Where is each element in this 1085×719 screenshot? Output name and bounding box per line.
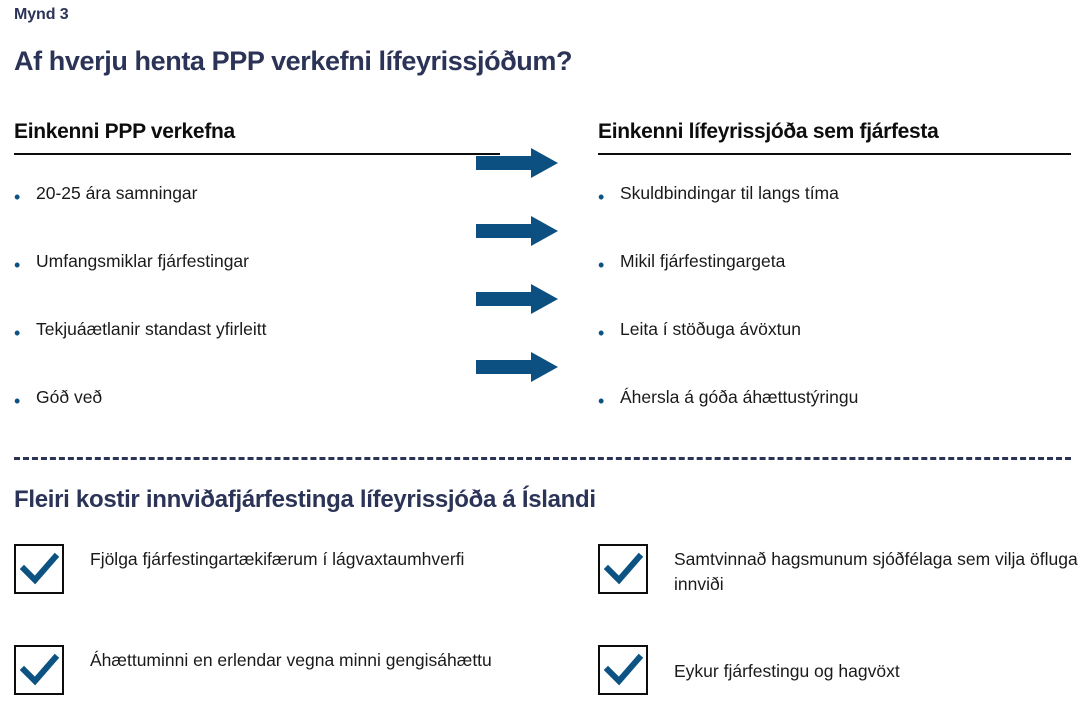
arrow-slot [476,284,566,352]
bullet-dot-icon: • [598,183,620,206]
bullet-dot-icon: • [598,387,620,410]
list-item: Eykur fjárfestingu og hagvöxt [598,645,1078,695]
arrow-right-icon [476,148,558,178]
column-left: Einkenni PPP verkefna • 20-25 ára samnin… [14,120,500,455]
list-item-label: Umfangsmiklar fjárfestingar [36,251,249,273]
list-item-label: Eykur fjárfestingu og hagvöxt [674,645,900,684]
checkbox-checked-icon [598,645,648,695]
arrow-column [476,148,566,420]
arrow-right-icon [476,216,558,246]
checkbox-checked-icon [14,645,64,695]
list-item-label: Mikil fjárfestingargeta [620,251,785,273]
column-right-heading: Einkenni lífeyrissjóða sem fjárfesta [598,120,1071,155]
list-item-label: Samtvinnað hagsmunum sjóðfélaga sem vilj… [674,544,1078,598]
bullet-dot-icon: • [14,183,36,206]
figure-page: Mynd 3 Af hverju henta PPP verkefni lífe… [0,0,1085,719]
list-item: • Áhersla á góða áhættustýringu [598,387,1071,455]
section-divider [14,457,1071,460]
list-item-label: Tekjuáætlanir standast yfirleitt [36,319,267,341]
list-item: • Tekjuáætlanir standast yfirleitt [14,319,500,387]
list-item: Samtvinnað hagsmunum sjóðfélaga sem vilj… [598,544,1078,598]
checkbox-checked-icon [598,544,648,594]
column-right: Einkenni lífeyrissjóða sem fjárfesta • S… [598,120,1071,455]
arrow-slot [476,216,566,284]
list-item: • Leita í stöðuga ávöxtun [598,319,1071,387]
list-item: Áhættuminni en erlendar vegna minni geng… [14,645,494,695]
bullet-dot-icon: • [598,251,620,274]
bullet-dot-icon: • [598,319,620,342]
list-item: Fjölga fjárfestingartækifærum í lágvaxta… [14,544,494,594]
section-heading: Fleiri kostir innviðafjárfestinga lífeyr… [14,486,596,514]
list-item: • Skuldbindingar til langs tíma [598,183,1071,251]
list-item: • Mikil fjárfestingargeta [598,251,1071,319]
list-item-label: 20-25 ára samningar [36,183,197,205]
bullet-dot-icon: • [14,319,36,342]
list-item-label: Áhættuminni en erlendar vegna minni geng… [90,645,492,673]
page-title: Af hverju henta PPP verkefni lífeyrissjó… [14,46,572,77]
figure-label: Mynd 3 [14,6,69,24]
list-item-label: Leita í stöðuga ávöxtun [620,319,801,341]
column-right-bullets: • Skuldbindingar til langs tíma • Mikil … [598,183,1071,455]
bullet-dot-icon: • [14,387,36,410]
arrow-right-icon [476,284,558,314]
list-item-label: Áhersla á góða áhættustýringu [620,387,858,409]
list-item-label: Skuldbindingar til langs tíma [620,183,839,205]
arrow-right-icon [476,352,558,382]
list-item: • Umfangsmiklar fjárfestingar [14,251,500,319]
checkbox-checked-icon [14,544,64,594]
arrow-slot [476,148,566,216]
list-item-label: Fjölga fjárfestingartækifærum í lágvaxta… [90,544,464,572]
bullet-dot-icon: • [14,251,36,274]
list-item: • 20-25 ára samningar [14,183,500,251]
column-left-bullets: • 20-25 ára samningar • Umfangsmiklar fj… [14,183,500,455]
column-left-heading: Einkenni PPP verkefna [14,120,500,155]
arrow-slot [476,352,566,420]
list-item: • Góð veð [14,387,500,455]
list-item-label: Góð veð [36,387,102,409]
